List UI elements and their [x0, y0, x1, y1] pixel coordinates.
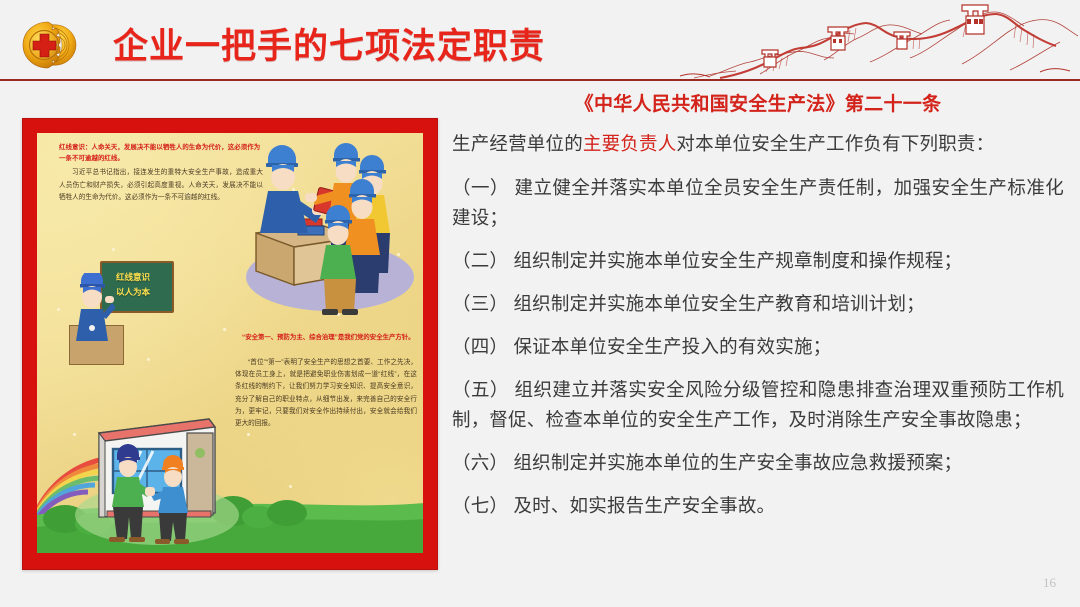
blackboard-text: 红线意识 以人为本	[116, 270, 174, 300]
clause-text: 及时、如实报告生产安全事故。	[513, 495, 775, 516]
clause-number: （四）	[452, 336, 508, 357]
clause-text: 组织制定并实施本单位安全生产规章制度和操作规程；	[513, 250, 962, 271]
decor-speck	[223, 328, 226, 331]
lead-in-sentence: 生产经营单位的主要负责人对本单位安全生产工作负有下列职责：	[452, 129, 1064, 159]
clause-text: 组织建立并落实安全风险分级管控和隐患排查治理双重预防工作机制，督促、检查本单位的…	[452, 379, 1064, 430]
clause-text: 组织制定并实施本单位安全生产教育和培训计划；	[513, 293, 924, 314]
slide-header: 企业一把手的七项法定职责	[0, 0, 1080, 81]
clause-item: （一） 建立健全并落实本单位全员安全生产责任制，加强安全生产标准化建设；	[452, 173, 1064, 233]
clause-text: 建立健全并落实本单位全员安全生产责任制，加强安全生产标准化建设；	[452, 177, 1064, 228]
clause-number: （三）	[452, 293, 508, 314]
safety-culture-poster: 红线意识 以人为本 红线意识：人命关天，发展决不能以牺牲人的生命为代价，这必须作…	[22, 118, 438, 570]
clause-item: （七） 及时、如实报告生产安全事故。	[452, 491, 1064, 521]
decor-speck	[57, 308, 60, 311]
clause-number: （二）	[452, 250, 508, 271]
workers-receiving-booklets-illustration	[242, 137, 417, 322]
header-divider	[0, 79, 1080, 81]
lead-in-after: 对本单位安全生产工作负有下列职责：	[676, 133, 994, 154]
decor-speck	[147, 358, 150, 361]
clause-item: （二） 组织制定并实施本单位安全生产规章制度和操作规程；	[452, 246, 1064, 276]
great-wall-line-art-icon	[610, 0, 1080, 80]
clause-number: （七）	[452, 495, 508, 516]
safety-production-emblem-icon	[18, 19, 80, 71]
clause-item: （四） 保证本单位安全生产投入的有效实施；	[452, 332, 1064, 362]
clause-text: 保证本单位安全生产投入的有效实施；	[513, 336, 831, 357]
decor-speck	[112, 248, 115, 251]
clause-number: （五）	[452, 379, 509, 400]
clause-number: （一）	[452, 177, 509, 198]
poster-body-text-2: “首位”“第一”表明了安全生产的思想之首要、工作之先决，体现在员工身上，就是把避…	[235, 357, 417, 430]
lead-in-before: 生产经营单位的	[452, 133, 583, 154]
clause-item: （五） 组织建立并落实安全风险分级管控和隐患排查治理双重预防工作机制，督促、检查…	[452, 375, 1064, 435]
clause-item: （六） 组织制定并实施本单位的生产安全事故应急救援预案；	[452, 448, 1064, 478]
law-article-title: 《中华人民共和国安全生产法》第二十一条	[452, 90, 1064, 120]
page-title: 企业一把手的七项法定职责	[113, 24, 545, 70]
clause-number: （六）	[452, 452, 508, 473]
poster-red-heading-1: 红线意识：人命关天，发展决不能以牺牲人的生命为代价，这必须作为一条不可逾越的红线…	[59, 143, 264, 164]
instructor-at-blackboard-illustration	[75, 273, 115, 345]
poster-body-text-1: 习近平总书记指出，接连发生的重特大安全生产事故，造成重大人员伤亡和财产损失，必须…	[59, 167, 263, 205]
law-content-panel: 《中华人民共和国安全生产法》第二十一条 生产经营单位的主要负责人对本单位安全生产…	[452, 90, 1064, 590]
clause-item: （三） 组织制定并实施本单位安全生产教育和培训计划；	[452, 289, 1064, 319]
lead-in-highlight: 主要负责人	[583, 133, 677, 154]
page-number: 16	[1043, 575, 1056, 591]
poster-red-heading-2: “安全第一、预防为主、综合治理”是我们党的安全生产方针。	[242, 333, 417, 344]
clause-text: 组织制定并实施本单位的生产安全事故应急救援预案；	[513, 452, 962, 473]
